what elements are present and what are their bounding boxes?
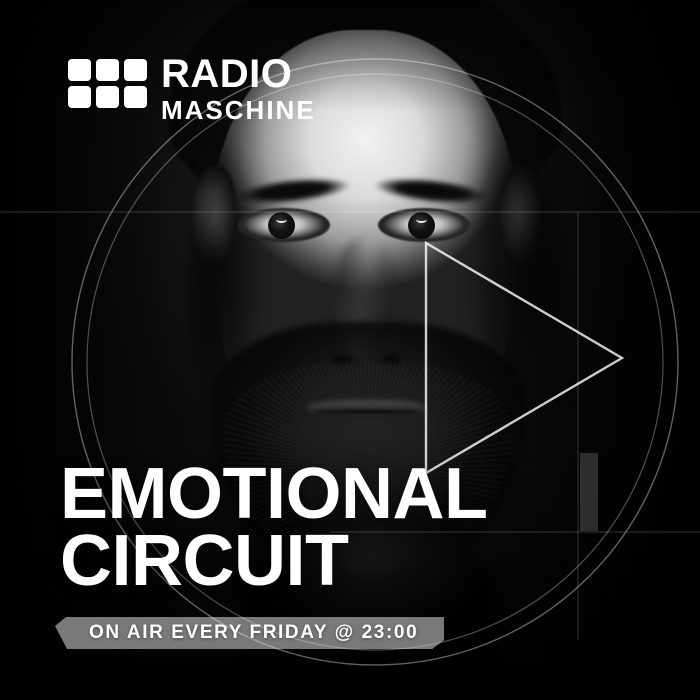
logo-grid-cell	[124, 86, 147, 108]
translucent-accent-block	[580, 453, 598, 531]
logo-grid-cell	[124, 59, 147, 81]
logo-grid-cell	[96, 86, 119, 108]
on-air-banner-text: ON AIR EVERY FRIDAY @ 23:00	[89, 622, 418, 644]
logo-wordmark: RADIO MASCHINE	[161, 56, 316, 124]
on-air-banner: ON AIR EVERY FRIDAY @ 23:00	[55, 617, 444, 649]
show-title: EMOTIONAL CIRCUIT	[60, 461, 487, 596]
logo-grid-cell	[68, 59, 91, 81]
logo-grid-cell	[68, 86, 91, 108]
poster-canvas: RADIO MASCHINE EMOTIONAL CIRCUIT ON AIR …	[0, 0, 700, 700]
logo-line-radio: RADIO	[161, 56, 316, 94]
logo-grid-icon	[68, 59, 147, 108]
brand-logo[interactable]: RADIO MASCHINE	[68, 56, 316, 124]
logo-line-maschine: MASCHINE	[161, 96, 316, 124]
show-title-line-2: CIRCUIT	[60, 528, 487, 596]
logo-grid-cell	[96, 59, 119, 81]
show-title-line-1: EMOTIONAL	[60, 461, 487, 529]
